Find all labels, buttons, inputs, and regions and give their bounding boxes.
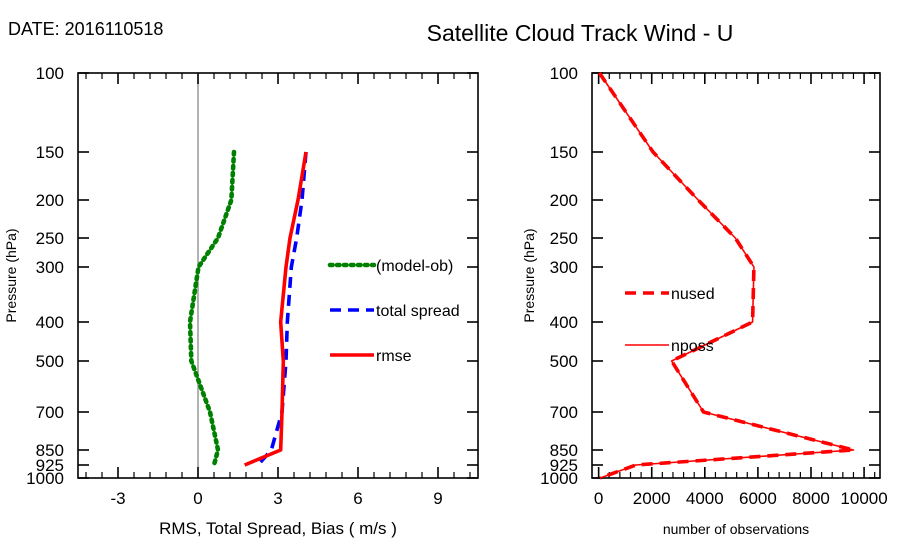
y-tick-label: 150 <box>36 143 64 162</box>
legend-label-nposs: nposs <box>671 338 714 355</box>
y-tick-label: 200 <box>550 191 578 210</box>
x-tick-label: 2000 <box>633 489 671 508</box>
y-axis-label: Pressure (hPa) <box>3 228 19 322</box>
y-tick-label: 700 <box>36 403 64 422</box>
plot-frame <box>78 73 478 478</box>
x-tick-label: -3 <box>110 489 125 508</box>
y-axis-label: Pressure (hPa) <box>521 228 537 322</box>
x-tick-label: 4000 <box>686 489 724 508</box>
x-tick-label: 9 <box>433 489 442 508</box>
right-panel-counts: 1001502002503004005007008509251000020004… <box>521 64 888 537</box>
x-tick-label: 0 <box>193 489 202 508</box>
y-tick-label: 100 <box>550 64 578 83</box>
plot-figure: DATE: 2016110518 Satellite Cloud Track W… <box>0 0 900 560</box>
y-tick-label: 400 <box>36 313 64 332</box>
y-tick-label: 1000 <box>540 469 578 488</box>
y-tick-label: 250 <box>550 229 578 248</box>
x-tick-label: 8000 <box>792 489 830 508</box>
legend-label-model-ob: (model-ob) <box>376 258 453 275</box>
x-tick-label: 6000 <box>739 489 777 508</box>
series-rmse <box>245 152 306 465</box>
series-nposs <box>599 73 853 478</box>
figure-canvas: DATE: 2016110518 Satellite Cloud Track W… <box>0 0 900 560</box>
x-tick-label: 10000 <box>840 489 887 508</box>
date-label: DATE: 2016110518 <box>8 19 163 39</box>
plot-frame <box>592 73 880 478</box>
x-tick-label: 0 <box>594 489 603 508</box>
y-tick-label: 250 <box>36 229 64 248</box>
series-model-ob <box>190 152 234 465</box>
figure-title: Satellite Cloud Track Wind - U <box>427 20 734 46</box>
x-axis-label: number of observations <box>663 521 809 537</box>
y-tick-label: 200 <box>36 191 64 210</box>
y-tick-label: 400 <box>550 313 578 332</box>
y-tick-label: 500 <box>36 352 64 371</box>
y-tick-label: 700 <box>550 403 578 422</box>
left-panel-statistics: 1001502002503004005007008509251000-30369… <box>3 64 478 538</box>
legend-label-total-spread: total spread <box>376 303 460 320</box>
x-tick-label: 3 <box>273 489 282 508</box>
y-tick-label: 300 <box>550 258 578 277</box>
legend-label-nused: nused <box>671 286 715 303</box>
legend-label-rmse: rmse <box>376 348 412 365</box>
y-tick-label: 300 <box>36 258 64 277</box>
x-axis-label: RMS, Total Spread, Bias ( m/s ) <box>159 519 397 538</box>
y-tick-label: 1000 <box>26 469 64 488</box>
y-tick-label: 150 <box>550 143 578 162</box>
x-tick-label: 6 <box>353 489 362 508</box>
y-tick-label: 500 <box>550 352 578 371</box>
y-tick-label: 100 <box>36 64 64 83</box>
